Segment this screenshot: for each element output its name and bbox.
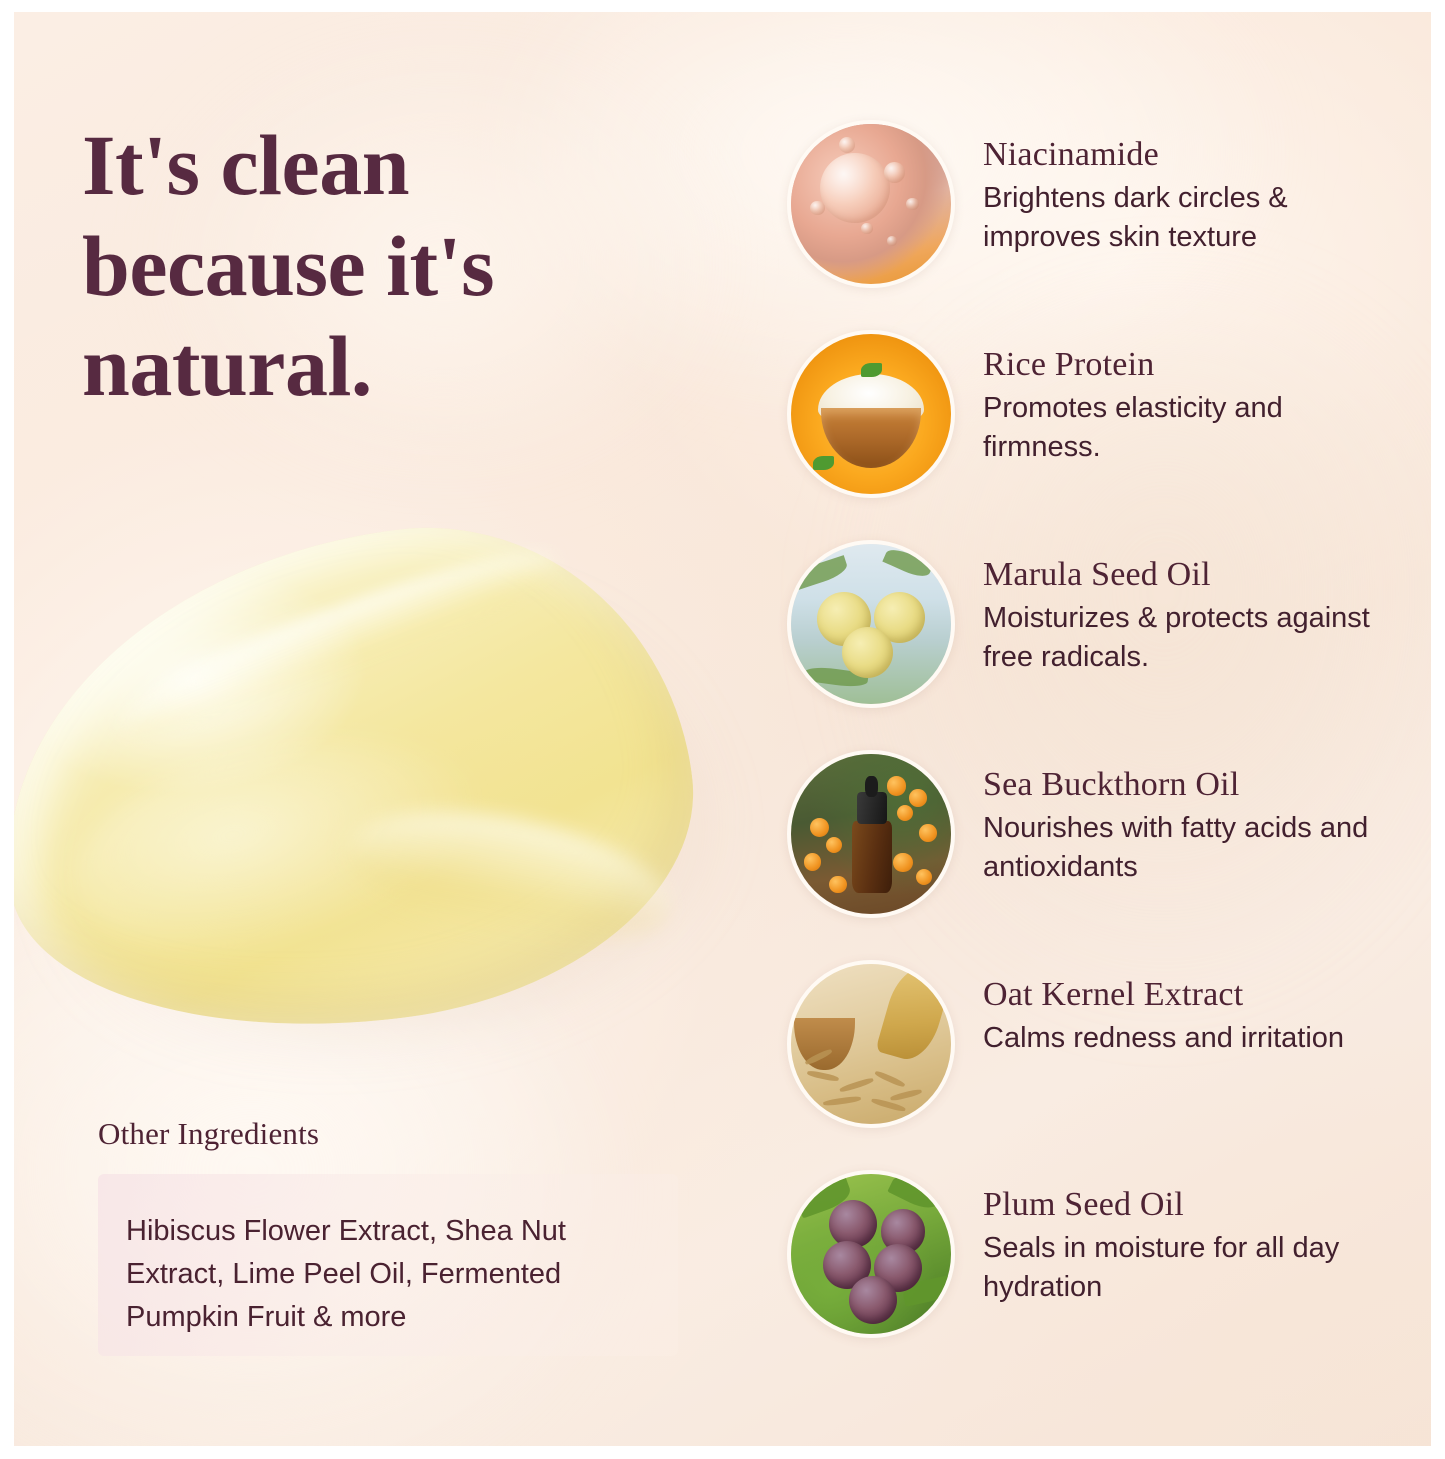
ingredient-name: Oat Kernel Extract — [983, 974, 1403, 1015]
ingredient-description: Nourishes with fatty acids and antioxida… — [983, 809, 1403, 886]
ingredient-name: Sea Buckthorn Oil — [983, 764, 1403, 805]
rice-bowl-image — [787, 330, 955, 498]
oat-grain — [807, 1070, 839, 1082]
ingredient-description: Brightens dark circles & improves skin t… — [983, 179, 1403, 256]
ingredient-text-block: Rice Protein Promotes elasticity and fir… — [983, 344, 1403, 466]
cream-swatch-image — [14, 512, 764, 1112]
bubble-icon — [810, 201, 824, 215]
ingredient-text-block: Plum Seed Oil Seals in moisture for all … — [983, 1184, 1403, 1306]
berry-icon — [919, 824, 937, 842]
berry-icon — [810, 818, 829, 837]
oat-grain — [890, 1088, 922, 1101]
list-item: Rice Protein Promotes elasticity and fir… — [787, 330, 1407, 540]
ingredient-name: Rice Protein — [983, 344, 1403, 385]
bubble-icon — [839, 137, 855, 153]
berry-icon — [916, 869, 932, 885]
cream-swatch-highlight — [52, 708, 502, 984]
berry-icon — [829, 876, 847, 894]
dropper-bulb — [865, 776, 878, 797]
marula-fruit-image — [787, 540, 955, 708]
berry-icon — [887, 776, 906, 795]
bubble-icon — [906, 198, 919, 211]
buckthorn-oil-bottle-image — [787, 750, 955, 918]
list-item: Oat Kernel Extract Calms redness and irr… — [787, 960, 1407, 1170]
plum-fruit — [829, 1200, 877, 1248]
ingredient-text-block: Niacinamide Brightens dark circles & imp… — [983, 134, 1403, 256]
oat-grain — [839, 1077, 874, 1093]
plum-fruit-art — [791, 1174, 951, 1334]
ingredient-text-block: Marula Seed Oil Moisturizes & protects a… — [983, 554, 1403, 676]
ingredient-name: Niacinamide — [983, 134, 1403, 175]
other-ingredients-text: Hibiscus Flower Extract, Shea Nut Extrac… — [126, 1210, 646, 1339]
bubble-icon — [884, 162, 905, 183]
leaf-icon — [793, 555, 851, 590]
serum-bubbles-art — [791, 124, 951, 284]
list-item: Niacinamide Brightens dark circles & imp… — [787, 120, 1407, 330]
dropper-bottle — [852, 821, 892, 893]
buckthorn-oil-art — [791, 754, 951, 914]
ingredient-description: Moisturizes & protects against free radi… — [983, 599, 1403, 676]
oat-grain — [823, 1096, 862, 1107]
oat-grain — [874, 1070, 906, 1088]
ingredient-description: Calms redness and irritation — [983, 1019, 1403, 1057]
other-ingredients-title: Other Ingredients — [98, 1116, 319, 1152]
headline-line-1: It's clean — [82, 115, 742, 216]
wooden-bowl — [794, 1018, 855, 1069]
leaf-icon — [813, 456, 834, 470]
berry-icon — [804, 853, 822, 871]
ingredient-text-block: Oat Kernel Extract Calms redness and irr… — [983, 974, 1403, 1058]
berry-icon — [909, 789, 927, 807]
ingredient-text-block: Sea Buckthorn Oil Nourishes with fatty a… — [983, 764, 1403, 886]
ingredient-infographic-poster: It's clean because it's natural. Other I… — [14, 12, 1431, 1446]
list-item: Sea Buckthorn Oil Nourishes with fatty a… — [787, 750, 1407, 960]
bubble-icon — [861, 223, 872, 234]
page-title: It's clean because it's natural. — [82, 115, 742, 417]
rice-bowl-art — [791, 334, 951, 494]
marula-fruit — [842, 627, 893, 678]
cream-swatch-ridge-top — [106, 526, 570, 760]
bubble-icon — [887, 236, 897, 246]
berry-icon — [826, 837, 842, 853]
wheat-stalk-icon — [875, 961, 953, 1065]
list-item: Marula Seed Oil Moisturizes & protects a… — [787, 540, 1407, 750]
ingredient-description: Promotes elasticity and firmness. — [983, 389, 1403, 466]
oat-grain — [871, 1097, 906, 1112]
serum-bubbles-image — [787, 120, 955, 288]
ingredient-description: Seals in moisture for all day hydration — [983, 1229, 1403, 1306]
ingredient-name: Plum Seed Oil — [983, 1184, 1403, 1225]
plum-fruit-image — [787, 1170, 955, 1338]
bubble-large-icon — [820, 153, 890, 223]
berry-icon — [893, 853, 912, 872]
wooden-bowl — [821, 408, 920, 469]
list-item: Plum Seed Oil Seals in moisture for all … — [787, 1170, 1407, 1380]
ingredient-list: Niacinamide Brightens dark circles & imp… — [787, 120, 1407, 1380]
ingredient-name: Marula Seed Oil — [983, 554, 1403, 595]
berry-icon — [897, 805, 913, 821]
headline-line-3: natural. — [82, 316, 742, 417]
marula-fruit-art — [791, 544, 951, 704]
leaf-icon — [888, 1170, 945, 1214]
dropper-cap — [857, 792, 887, 824]
oat-grains-art — [791, 964, 951, 1124]
leaf-icon — [882, 545, 933, 581]
plum-fruit — [849, 1276, 897, 1324]
cream-swatch-body — [14, 498, 717, 1063]
oat-grains-image — [787, 960, 955, 1128]
headline-line-2: because it's — [82, 216, 742, 317]
